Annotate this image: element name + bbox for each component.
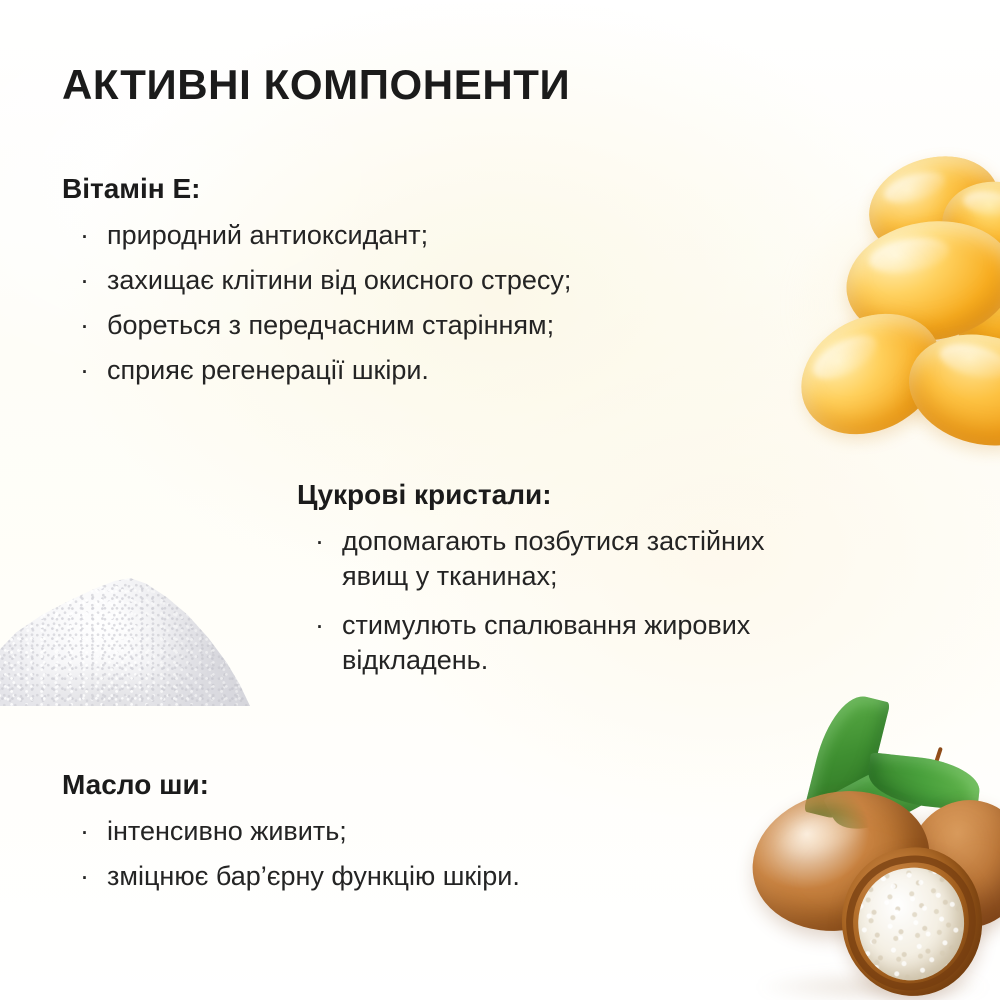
page-title: АКТИВНІ КОМПОНЕНТИ bbox=[62, 62, 570, 108]
section-vitamin-e: Вітамін Е: · природний антиоксидант; · з… bbox=[62, 172, 842, 388]
section-heading-shea-butter: Масло ши: bbox=[62, 768, 762, 802]
section-sugar-crystals: Цукрові кристали: · допомагають позбутис… bbox=[297, 478, 857, 692]
list-item: · зміцнює бар’єрну функцію шкіри. bbox=[80, 859, 762, 894]
list-item: · захищає клітини від окисного стресу; bbox=[80, 263, 842, 298]
bullet-list-shea-butter: · інтенсивно живить; · зміцнює бар’єрну … bbox=[80, 814, 762, 894]
bullet-list-vitamin-e: · природний антиоксидант; · захищає кліт… bbox=[80, 218, 842, 388]
sugar-crystals-pile-photo bbox=[0, 556, 258, 706]
section-heading-sugar-crystals: Цукрові кристали: bbox=[297, 478, 857, 512]
list-item-label: зміцнює бар’єрну функцію шкіри. bbox=[107, 859, 762, 894]
bullet-dot-icon: · bbox=[80, 353, 107, 388]
bullet-dot-icon: · bbox=[80, 308, 107, 343]
list-item-label: інтенсивно живить; bbox=[107, 814, 762, 849]
list-item: · інтенсивно живить; bbox=[80, 814, 762, 849]
bullet-dot-icon: · bbox=[80, 814, 107, 849]
sugar-shading bbox=[0, 570, 250, 706]
list-item: · стимулють спалювання жирових відкладен… bbox=[315, 608, 857, 678]
list-item: · бореться з передчасним старінням; bbox=[80, 308, 842, 343]
section-shea-butter: Масло ши: · інтенсивно живить; · зміцнює… bbox=[62, 768, 762, 894]
list-item: · природний антиоксидант; bbox=[80, 218, 842, 253]
active-ingredients-poster: АКТИВНІ КОМПОНЕНТИ Вітамін Е: · природни… bbox=[0, 0, 1000, 1000]
list-item-label: стимулють спалювання жирових відкладень. bbox=[342, 608, 772, 678]
bullet-dot-icon: · bbox=[80, 859, 107, 894]
bullet-dot-icon: · bbox=[80, 263, 107, 298]
bullet-dot-icon: · bbox=[315, 524, 342, 559]
bullet-list-sugar-crystals: · допомагають позбутися застійних явищ у… bbox=[315, 524, 857, 678]
list-item-label: природний антиоксидант; bbox=[107, 218, 842, 253]
list-item-label: бореться з передчасним старінням; bbox=[107, 308, 842, 343]
section-heading-vitamin-e: Вітамін Е: bbox=[62, 172, 842, 206]
list-item: · допомагають позбутися застійних явищ у… bbox=[315, 524, 857, 594]
list-item-label: захищає клітини від окисного стресу; bbox=[107, 263, 842, 298]
list-item: · сприяє регенерації шкіри. bbox=[80, 353, 842, 388]
list-item-label: допомагають позбутися застійних явищ у т… bbox=[342, 524, 772, 594]
bullet-dot-icon: · bbox=[80, 218, 107, 253]
bullet-dot-icon: · bbox=[315, 608, 342, 643]
list-item-label: сприяє регенерації шкіри. bbox=[107, 353, 842, 388]
